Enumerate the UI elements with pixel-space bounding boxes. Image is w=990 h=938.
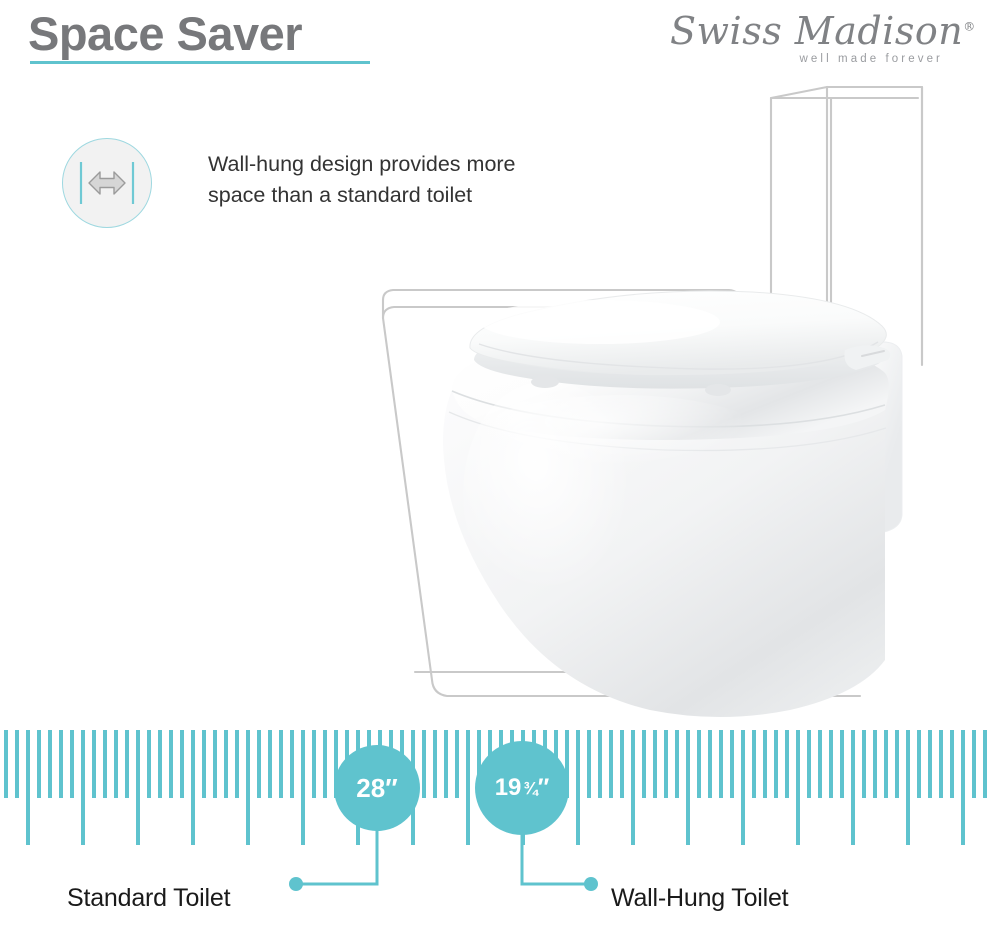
ruler-tick-minor xyxy=(609,730,613,798)
ruler-tick-minor xyxy=(697,730,701,798)
ruler-tick-minor xyxy=(763,730,767,798)
ruler-tick-minor xyxy=(620,730,624,798)
ruler-tick-minor xyxy=(752,730,756,798)
ruler-tick-minor xyxy=(807,730,811,798)
ruler-tick-minor xyxy=(169,730,173,798)
ruler-tick-minor xyxy=(92,730,96,798)
leader-dot-wallhung xyxy=(584,877,598,891)
ruler-tick-minor xyxy=(917,730,921,798)
ruler-tick-minor xyxy=(719,730,723,798)
ruler-tick-minor xyxy=(37,730,41,798)
product-illustration xyxy=(0,60,990,730)
leader-line-standard xyxy=(299,820,377,884)
ruler-tick-minor xyxy=(213,730,217,798)
ruler-tick-minor xyxy=(312,730,316,798)
ruler-tick-minor xyxy=(730,730,734,798)
ruler-tick-minor xyxy=(279,730,283,798)
ruler-tick-minor xyxy=(202,730,206,798)
ruler-tick-minor xyxy=(664,730,668,798)
ruler-tick-minor xyxy=(587,730,591,798)
ruler-tick-minor xyxy=(59,730,63,798)
ruler-tick-minor xyxy=(708,730,712,798)
ruler-tick-minor xyxy=(257,730,261,798)
infographic-page: Space Saver Swiss Madison® well made for… xyxy=(0,0,990,938)
ruler-tick-minor xyxy=(840,730,844,798)
registered-trademark-icon: ® xyxy=(963,19,976,33)
ruler-tick-minor xyxy=(70,730,74,798)
ruler-tick-minor xyxy=(15,730,19,798)
page-title: Space Saver xyxy=(28,8,302,60)
ruler-tick-minor xyxy=(983,730,987,798)
measurement-unit-wallhung: ″ xyxy=(538,774,550,802)
ruler-tick-minor xyxy=(125,730,129,798)
ruler-tick-minor xyxy=(829,730,833,798)
ruler-tick-minor xyxy=(444,730,448,798)
ruler-tick-minor xyxy=(928,730,932,798)
measurement-value-wallhung: 19 xyxy=(495,774,522,802)
ruler-tick-minor xyxy=(114,730,118,798)
ruler-tick-minor xyxy=(455,730,459,798)
measurement-fraction-wallhung: ¾ xyxy=(523,778,537,799)
measurement-badge-standard: 28″ xyxy=(334,745,420,831)
ruler-tick-minor xyxy=(950,730,954,798)
leader-lines xyxy=(0,820,990,938)
leader-dot-standard xyxy=(289,877,303,891)
wall-hung-toilet-photo xyxy=(440,291,902,717)
ruler-tick-minor xyxy=(873,730,877,798)
ruler-tick-minor xyxy=(862,730,866,798)
ruler-tick-minor xyxy=(433,730,437,798)
ruler-tick-minor xyxy=(180,730,184,798)
ruler-tick-minor xyxy=(268,730,272,798)
ruler-tick-minor xyxy=(642,730,646,798)
measurement-unit-standard: ″ xyxy=(385,773,397,804)
ruler-tick-minor xyxy=(895,730,899,798)
ruler-tick-minor xyxy=(48,730,52,798)
leader-line-wallhung xyxy=(522,820,588,884)
ruler-tick-minor xyxy=(972,730,976,798)
ruler-tick-minor xyxy=(158,730,162,798)
brand-name-text: Swiss Madison xyxy=(670,9,963,53)
ruler-tick-minor xyxy=(774,730,778,798)
ruler-tick-minor xyxy=(598,730,602,798)
ruler-tick-minor xyxy=(675,730,679,798)
caption-standard-toilet: Standard Toilet xyxy=(67,884,230,913)
ruler-tick-minor xyxy=(290,730,294,798)
ruler-tick-minor xyxy=(422,730,426,798)
ruler-tick-minor xyxy=(785,730,789,798)
ruler-tick-minor xyxy=(939,730,943,798)
ruler-tick-minor xyxy=(224,730,228,798)
ruler-tick-minor xyxy=(147,730,151,798)
ruler-tick-minor xyxy=(818,730,822,798)
brand-name: Swiss Madison® xyxy=(670,12,946,50)
measurement-value-standard: 28 xyxy=(356,773,385,804)
ruler-tick-minor xyxy=(653,730,657,798)
ruler-tick-minor xyxy=(235,730,239,798)
ruler-tick-minor xyxy=(323,730,327,798)
caption-wall-hung-toilet: Wall-Hung Toilet xyxy=(611,884,788,913)
ruler-tick-minor xyxy=(884,730,888,798)
ruler-tick-minor xyxy=(4,730,8,798)
ruler-tick-minor xyxy=(103,730,107,798)
